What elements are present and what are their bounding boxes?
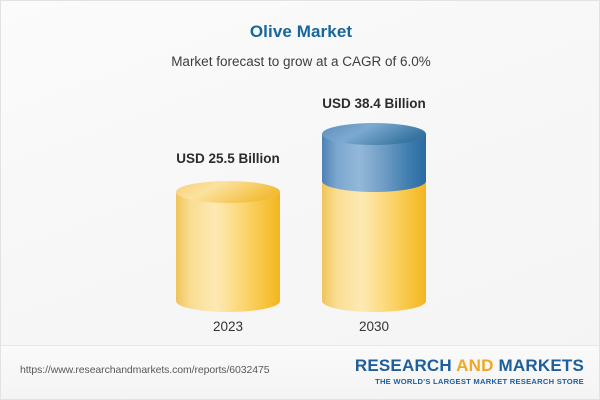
infographic-card: Olive Market Market forecast to grow at … [0, 0, 600, 400]
logo-tagline: THE WORLD'S LARGEST MARKET RESEARCH STOR… [355, 376, 584, 387]
bar-2030[interactable] [320, 120, 430, 312]
cylinder-2023 [174, 181, 282, 312]
value-label-2023: USD 25.5 Billion [128, 151, 328, 166]
bar-2023[interactable] [174, 181, 282, 312]
logo-word-markets: MARKETS [499, 356, 584, 375]
cylinder-2030 [320, 120, 430, 312]
logo-wordmark: RESEARCH AND MARKETS [355, 356, 584, 376]
value-label-2030: USD 38.4 Billion [274, 96, 474, 111]
footer: https://www.researchandmarkets.com/repor… [1, 345, 600, 399]
year-label-2030: 2030 [274, 319, 474, 334]
report-url-link[interactable]: https://www.researchandmarkets.com/repor… [20, 364, 269, 376]
logo-word-research: RESEARCH [355, 356, 456, 375]
research-and-markets-logo[interactable]: RESEARCH AND MARKETS THE WORLD'S LARGEST… [355, 356, 584, 387]
chart-plot-area: USD 25.5 Billion [1, 1, 600, 346]
logo-word-and: AND [456, 356, 498, 375]
